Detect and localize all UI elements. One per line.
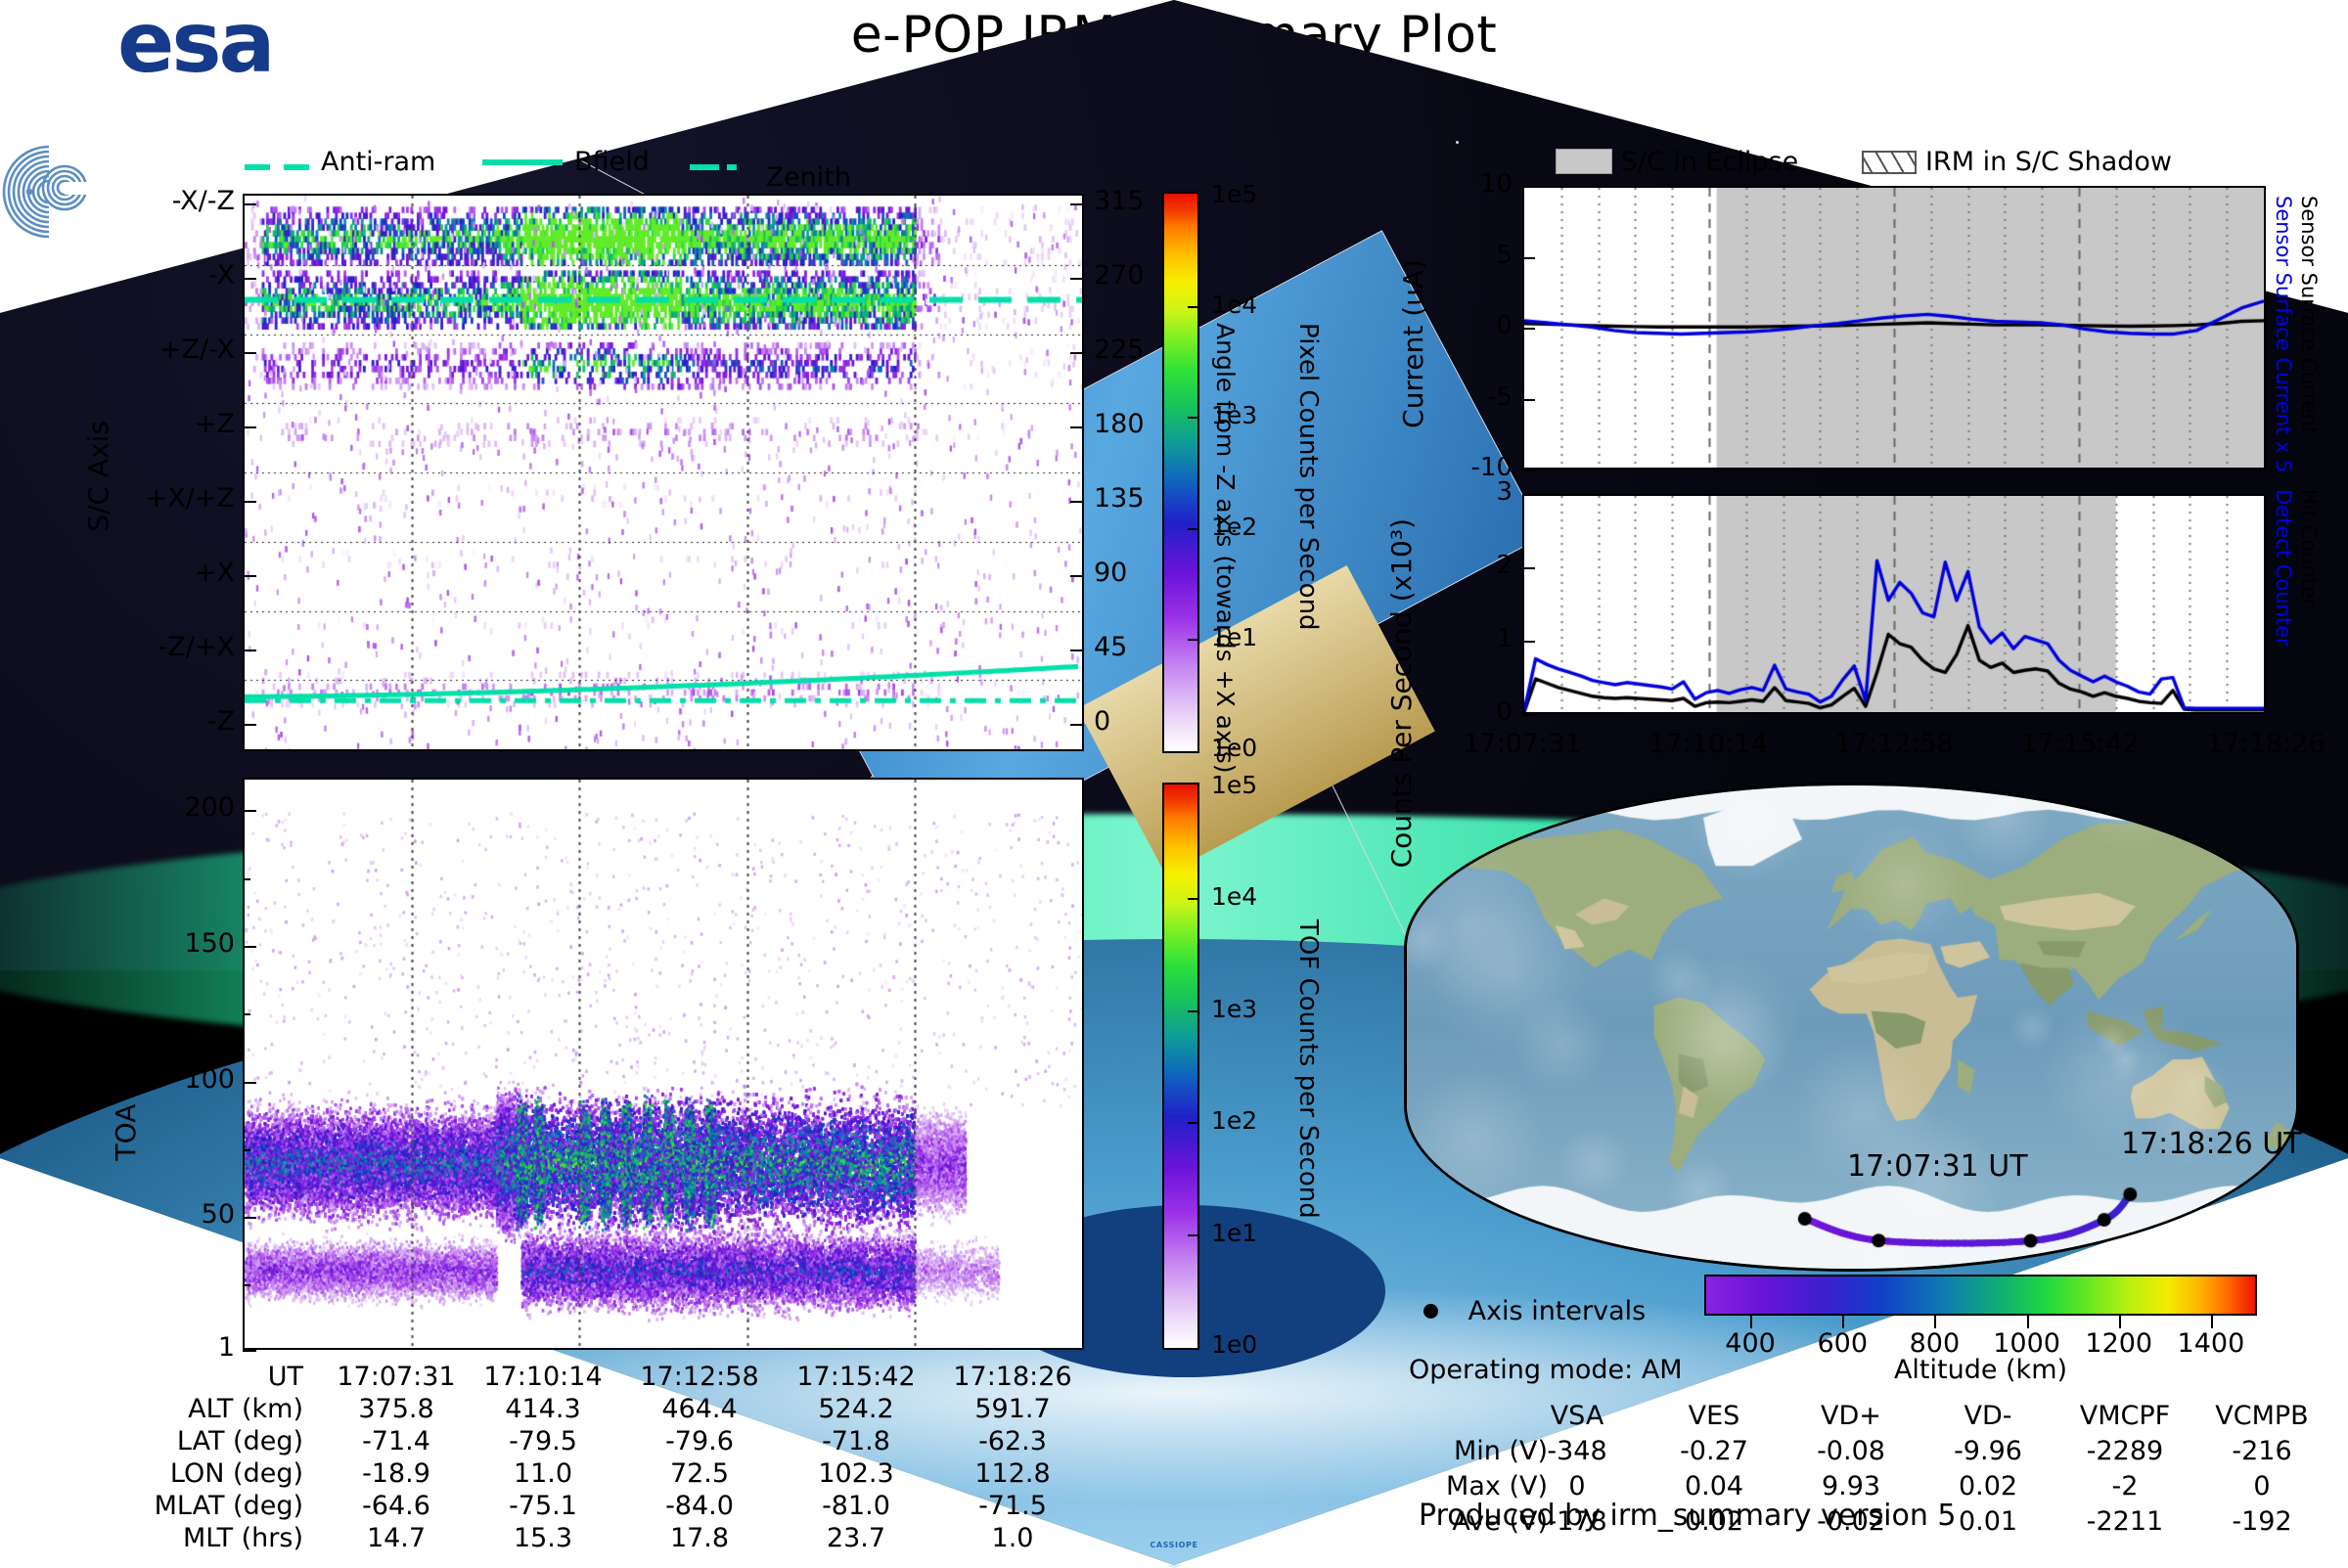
counts-xtick-1: 17:10:14 [1618, 729, 1798, 759]
legend-label: Anti-ram [321, 147, 435, 177]
pixel-counts-colorbar-label: Pixel Counts per Second [1293, 323, 1323, 631]
voltage-cell-0-4: -2289 [2052, 1436, 2198, 1466]
eph-cell-4-0: -64.6 [323, 1491, 470, 1521]
counts-canvas [1524, 496, 2264, 712]
operating-mode-text: Operating mode: AM [1409, 1355, 1683, 1385]
eph-row-label-4: MLAT (deg) [78, 1491, 303, 1521]
legend-label: Zenith [766, 162, 851, 193]
eph-cell-1-3: 524.2 [783, 1394, 929, 1424]
sc-axis-ytick-5: +X [98, 558, 235, 588]
colorbar-tick-1: 1e4 [1211, 291, 1257, 319]
colorbar-tick-4: 1e1 [1211, 1219, 1257, 1247]
current-ytick-3: -5 [1438, 382, 1513, 412]
sc-angle-tick-mark [1070, 575, 1084, 577]
sc-angle-ytick-2: 225 [1094, 335, 1162, 365]
counts-tick-mark [1522, 714, 1535, 716]
legend-item-irm-shadow: IRM in S/C Shadow [1862, 147, 2172, 177]
colorbar-tick-1: 1e4 [1211, 882, 1257, 911]
voltage-cell-1-4: -2 [2052, 1471, 2198, 1501]
sc-axis-tick-mark [243, 575, 256, 577]
dashed-line-icon [245, 147, 309, 177]
eph-cell-2-1: -79.5 [470, 1426, 616, 1456]
current-ytick-1: 5 [1438, 241, 1513, 270]
voltage-cell-1-3: 0.02 [1915, 1471, 2061, 1501]
sc-angle-ytick-1: 270 [1094, 260, 1162, 291]
orientation-legend: Anti-ram Bfield Zenith [245, 147, 851, 182]
sc-angle-ytick-3: 180 [1094, 409, 1162, 439]
sc-axis-tick-mark [243, 501, 256, 503]
sc-angle-tick-mark [1070, 278, 1084, 280]
eph-cell-0-1: 17:10:14 [470, 1362, 616, 1392]
eph-row-label-3: LON (deg) [78, 1458, 303, 1489]
eph-cell-5-1: 15.3 [470, 1523, 616, 1553]
sc-angle-ytick-6: 45 [1094, 632, 1162, 662]
eph-cell-1-2: 464.4 [626, 1394, 773, 1424]
toa-ytick-0: 200 [117, 792, 235, 823]
toa-minor-tick [243, 1082, 250, 1084]
sc-axis-tick-mark [243, 426, 256, 428]
colorbar-tick-4: 1e1 [1211, 623, 1257, 651]
sc-axis-ytick-3: +Z [98, 409, 235, 439]
current-ytick-0: 10 [1438, 169, 1513, 199]
eph-cell-4-1: -75.1 [470, 1491, 616, 1521]
counts-tick-mark [1522, 641, 1535, 643]
sc-angle-tick-mark [1070, 724, 1084, 726]
eph-cell-5-3: 23.7 [783, 1523, 929, 1553]
altitude-tick-mark [1842, 1316, 1844, 1328]
esa-wordmark: esa [117, 4, 273, 84]
eph-cell-4-3: -81.0 [783, 1491, 929, 1521]
sc-angle-ytick-0: 315 [1094, 186, 1162, 216]
current-right-label-blue: Sensor Surface Current x 5 [2272, 196, 2295, 472]
counts-xtick-4: 17:18:26 [2176, 729, 2348, 759]
eph-cell-0-4: 17:18:26 [939, 1362, 1086, 1392]
colorbar-tick-mark [1188, 417, 1199, 419]
gray-swatch-icon [1556, 149, 1612, 174]
dot-marker-icon [1423, 1304, 1438, 1319]
sc-angle-ytick-5: 90 [1094, 558, 1162, 588]
eph-cell-5-2: 17.8 [626, 1523, 773, 1553]
voltage-col-header-2: VD+ [1778, 1401, 1924, 1431]
sc-axis-ytick-1: -X [98, 260, 235, 291]
colorbar-tick-2: 1e3 [1211, 995, 1257, 1023]
toa-ytick-4: 1 [117, 1332, 235, 1363]
spectrogram-canvas [245, 780, 1082, 1348]
sc-axis-ytick-0: -X/-Z [98, 186, 235, 216]
esa-emblem-icon [0, 143, 110, 241]
toa-bin-spectrogram-plot[interactable] [243, 778, 1084, 1350]
track-start-label: 17:07:31 UT [1847, 1149, 2028, 1184]
current-canvas [1524, 188, 2264, 468]
colorbar-tick-0: 1e5 [1211, 771, 1257, 799]
current-right-label-black: Sensor Surface Current [2297, 196, 2321, 434]
voltage-cell-2-4: -2211 [2052, 1506, 2198, 1537]
eph-row-label-0: UT [78, 1362, 303, 1392]
voltage-cell-1-5: 0 [2189, 1471, 2335, 1501]
current-tick-mark [1522, 186, 1535, 188]
legend-item-bfield: Bfield [482, 147, 650, 177]
sc-angle-tick-mark [1070, 426, 1084, 428]
eph-cell-0-3: 17:15:42 [783, 1362, 929, 1392]
counts-tick-mark [1522, 567, 1535, 569]
sc-angle-tick-mark [1070, 203, 1084, 205]
colorbar-tick-3: 1e2 [1211, 1106, 1257, 1135]
eph-cell-1-0: 375.8 [323, 1394, 470, 1424]
colorbar-tick-mark [1188, 306, 1199, 308]
toa-minor-tick [243, 1217, 250, 1219]
toa-minor-tick [243, 946, 250, 948]
eph-cell-3-1: 11.0 [470, 1458, 616, 1489]
sc-axis-ytick-6: -Z/+X [98, 632, 235, 662]
voltage-col-header-3: VD- [1915, 1401, 2061, 1431]
colorbar-tick-mark [1188, 1122, 1199, 1124]
ground-track-world-map[interactable] [1404, 783, 2299, 1272]
sc-axis-ytick-2: +Z/-X [98, 335, 235, 365]
legend-label: Bfield [574, 147, 650, 177]
toa-minor-tick [243, 1013, 250, 1015]
counts-ytick-0: 3 [1446, 477, 1513, 507]
sc-angle-tick-mark [1070, 352, 1084, 354]
current-tick-mark [1522, 328, 1535, 330]
voltage-cell-0-5: -216 [2189, 1436, 2335, 1466]
eph-cell-2-4: -62.3 [939, 1426, 1086, 1456]
shading-legend: S/C in Eclipse IRM in S/C Shadow [1556, 147, 2172, 177]
pixel-counts-colorbar[interactable] [1162, 192, 1199, 753]
voltage-cell-0-1: -0.27 [1641, 1436, 1787, 1466]
eph-cell-4-2: -84.0 [626, 1491, 773, 1521]
toa-minor-tick [243, 1284, 250, 1286]
eph-cell-2-3: -71.8 [783, 1426, 929, 1456]
toa-ytick-2: 100 [117, 1064, 235, 1095]
counts-xtick-2: 17:12:58 [1804, 729, 1984, 759]
altitude-tick-mark [1934, 1316, 1936, 1328]
altitude-tick-mark [1750, 1316, 1752, 1328]
tof-counts-colorbar[interactable] [1162, 783, 1199, 1350]
eph-row-label-5: MLT (hrs) [78, 1523, 303, 1553]
voltage-cell-1-1: 0.04 [1641, 1471, 1787, 1501]
colorbar-tick-2: 1e3 [1211, 401, 1257, 429]
toa-tick-mark [243, 1350, 256, 1352]
sc-axis-spectrogram-plot[interactable] [243, 194, 1084, 751]
counts-xtick-0: 17:07:31 [1432, 729, 1612, 759]
current-ylabel: Current (uA) [1397, 259, 1429, 428]
sc-angle-tick-mark [1070, 501, 1084, 503]
counts-ytick-2: 1 [1446, 624, 1513, 653]
spectrogram-canvas [245, 196, 1082, 749]
voltage-cell-1-2: 9.93 [1778, 1471, 1924, 1501]
colorbar-tick-mark [1188, 639, 1199, 641]
voltage-col-header-0: VSA [1504, 1401, 1650, 1431]
colorbar-tick-mark [1188, 1234, 1199, 1236]
toa-ytick-1: 150 [117, 928, 235, 959]
voltage-cell-0-0: -348 [1504, 1436, 1650, 1466]
legend-label: IRM in S/C Shadow [1925, 147, 2172, 177]
voltage-cell-1-0: 0 [1504, 1471, 1650, 1501]
current-tick-mark [1522, 399, 1535, 401]
sc-axis-tick-mark [243, 724, 256, 726]
eph-cell-2-2: -79.6 [626, 1426, 773, 1456]
sc-axis-tick-mark [243, 352, 256, 354]
eph-cell-2-0: -71.4 [323, 1426, 470, 1456]
sc-angle-tick-mark [1070, 650, 1084, 651]
voltage-cell-0-2: -0.08 [1778, 1436, 1924, 1466]
current-ytick-2: 0 [1438, 311, 1513, 340]
current-tick-mark [1522, 470, 1535, 471]
tof-counts-colorbar-label: TOF Counts per Second [1293, 919, 1323, 1219]
colorbar-tick-3: 1e2 [1211, 513, 1257, 541]
voltage-col-header-1: VES [1641, 1401, 1787, 1431]
track-end-label: 17:18:26 UT [2121, 1127, 2302, 1161]
eph-cell-1-4: 591.7 [939, 1394, 1086, 1424]
counts-xtick-3: 17:15:42 [1990, 729, 2170, 759]
colorbar-tick-0: 1e5 [1211, 180, 1257, 208]
footer-credit: Produced by irm_summary version 5 [1419, 1499, 1956, 1533]
sc-angle-ytick-7: 0 [1094, 706, 1162, 737]
sc-axis-ytick-4: +X/+Z [98, 483, 235, 514]
altitude-tick-mark [2211, 1316, 2213, 1328]
sc-axis-tick-mark [243, 278, 256, 280]
voltage-cell-0-3: -9.96 [1915, 1436, 2061, 1466]
legend-label: S/C in Eclipse [1621, 147, 1799, 177]
ephemeris-table: UT17:07:3117:10:1417:12:5817:15:4217:18:… [78, 1362, 1154, 1557]
altitude-colorbar[interactable] [1704, 1275, 2257, 1316]
voltage-col-header-5: VCMPB [2189, 1401, 2335, 1431]
solid-line-icon [482, 159, 563, 165]
sc-angle-ytick-4: 135 [1094, 483, 1162, 514]
eph-cell-3-4: 112.8 [939, 1458, 1086, 1489]
toa-ytick-3: 50 [117, 1199, 235, 1230]
counts-right-label-black: Hit Counter [2297, 489, 2321, 606]
counts-timeseries-plot[interactable] [1522, 494, 2266, 714]
current-tick-mark [1522, 257, 1535, 259]
eph-row-label-1: ALT (km) [78, 1394, 303, 1424]
sc-axis-ytick-7: -Z [98, 706, 235, 737]
counts-ytick-3: 0 [1446, 697, 1513, 727]
eph-cell-0-0: 17:07:31 [323, 1362, 470, 1392]
eph-cell-5-4: 1.0 [939, 1523, 1086, 1553]
colorbar-tick-5: 1e0 [1211, 1330, 1257, 1359]
eph-row-label-2: LAT (deg) [78, 1426, 303, 1456]
colorbar-tick-mark [1188, 528, 1199, 530]
altitude-colorbar-ticks: 400600800100012001400 [0, 0, 2348, 1]
colorbar-tick-mark [1188, 1010, 1199, 1012]
eph-cell-4-4: -71.5 [939, 1491, 1086, 1521]
colorbar-tick-5: 1e0 [1211, 734, 1257, 762]
legend-item-anti-ram: Anti-ram [245, 147, 435, 177]
counts-ytick-1: 2 [1446, 551, 1513, 580]
eph-cell-1-1: 414.3 [470, 1394, 616, 1424]
legend-item-eclipse: S/C in Eclipse [1556, 147, 1807, 177]
voltage-cell-2-5: -192 [2189, 1506, 2335, 1537]
voltage-col-header-4: VMCPF [2052, 1401, 2198, 1431]
hatched-swatch-icon [1862, 151, 1917, 174]
altitude-tick-mark [2027, 1316, 2029, 1328]
eph-cell-3-0: -18.9 [323, 1458, 470, 1489]
colorbar-tick-mark [1188, 898, 1199, 900]
eph-cell-3-3: 102.3 [783, 1458, 929, 1489]
counts-right-label-blue: Detect Counter [2272, 489, 2295, 647]
toa-minor-tick [243, 1149, 250, 1151]
eph-cell-3-2: 72.5 [626, 1458, 773, 1489]
toa-minor-tick [243, 878, 250, 880]
world-map-canvas [1407, 785, 2296, 1269]
altitude-tick-mark [2119, 1316, 2121, 1328]
eph-cell-0-2: 17:12:58 [626, 1362, 773, 1392]
axis-intervals-legend: Axis intervals [1423, 1296, 1646, 1326]
sc-axis-tick-mark [243, 650, 256, 651]
counts-tick-mark [1522, 494, 1535, 496]
sc-axis-right-axis-label: Angle from -Z axis (towards +X axis) [1211, 323, 1240, 774]
eph-cell-5-0: 14.7 [323, 1523, 470, 1553]
altitude-colorbar-label: Altitude (km) [1704, 1355, 2257, 1385]
sc-axis-tick-mark [243, 203, 256, 205]
current-timeseries-plot[interactable] [1522, 186, 2266, 470]
toa-minor-tick [243, 810, 250, 812]
